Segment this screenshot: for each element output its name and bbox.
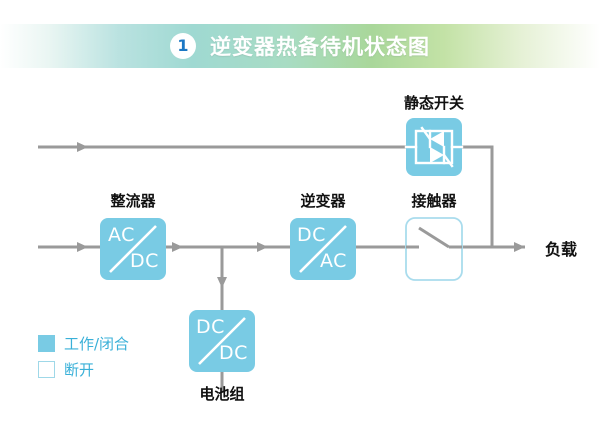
legend-item-active: 工作/闭合 xyxy=(38,330,129,356)
diagram-page: 1 逆变器热备待机状态图 xyxy=(0,0,600,428)
static-switch-block[interactable] xyxy=(406,118,462,176)
inverter-label: 逆变器 xyxy=(287,190,359,211)
battery-text-bottom: DC xyxy=(219,342,248,364)
rectifier-text-bottom: DC xyxy=(130,250,159,272)
legend-item-open: 断开 xyxy=(38,356,129,382)
inverter-text-bottom: AC xyxy=(320,250,347,272)
contactor-label: 接触器 xyxy=(398,190,470,211)
inverter-text-top: DC xyxy=(297,224,326,246)
battery-text-top: DC xyxy=(196,316,225,338)
legend-swatch-outline-icon xyxy=(38,361,55,378)
legend-label-active: 工作/闭合 xyxy=(64,333,129,354)
contactor-block[interactable] xyxy=(406,218,462,280)
legend-label-open: 断开 xyxy=(64,359,94,380)
rectifier-label: 整流器 xyxy=(97,190,169,211)
legend: 工作/闭合 断开 xyxy=(38,330,129,382)
legend-swatch-filled-icon xyxy=(38,335,55,352)
battery-label: 电池组 xyxy=(186,383,258,404)
static-switch-label: 静态开关 xyxy=(398,92,470,113)
rectifier-text-top: AC xyxy=(108,224,135,246)
load-label: 负载 xyxy=(545,236,577,260)
